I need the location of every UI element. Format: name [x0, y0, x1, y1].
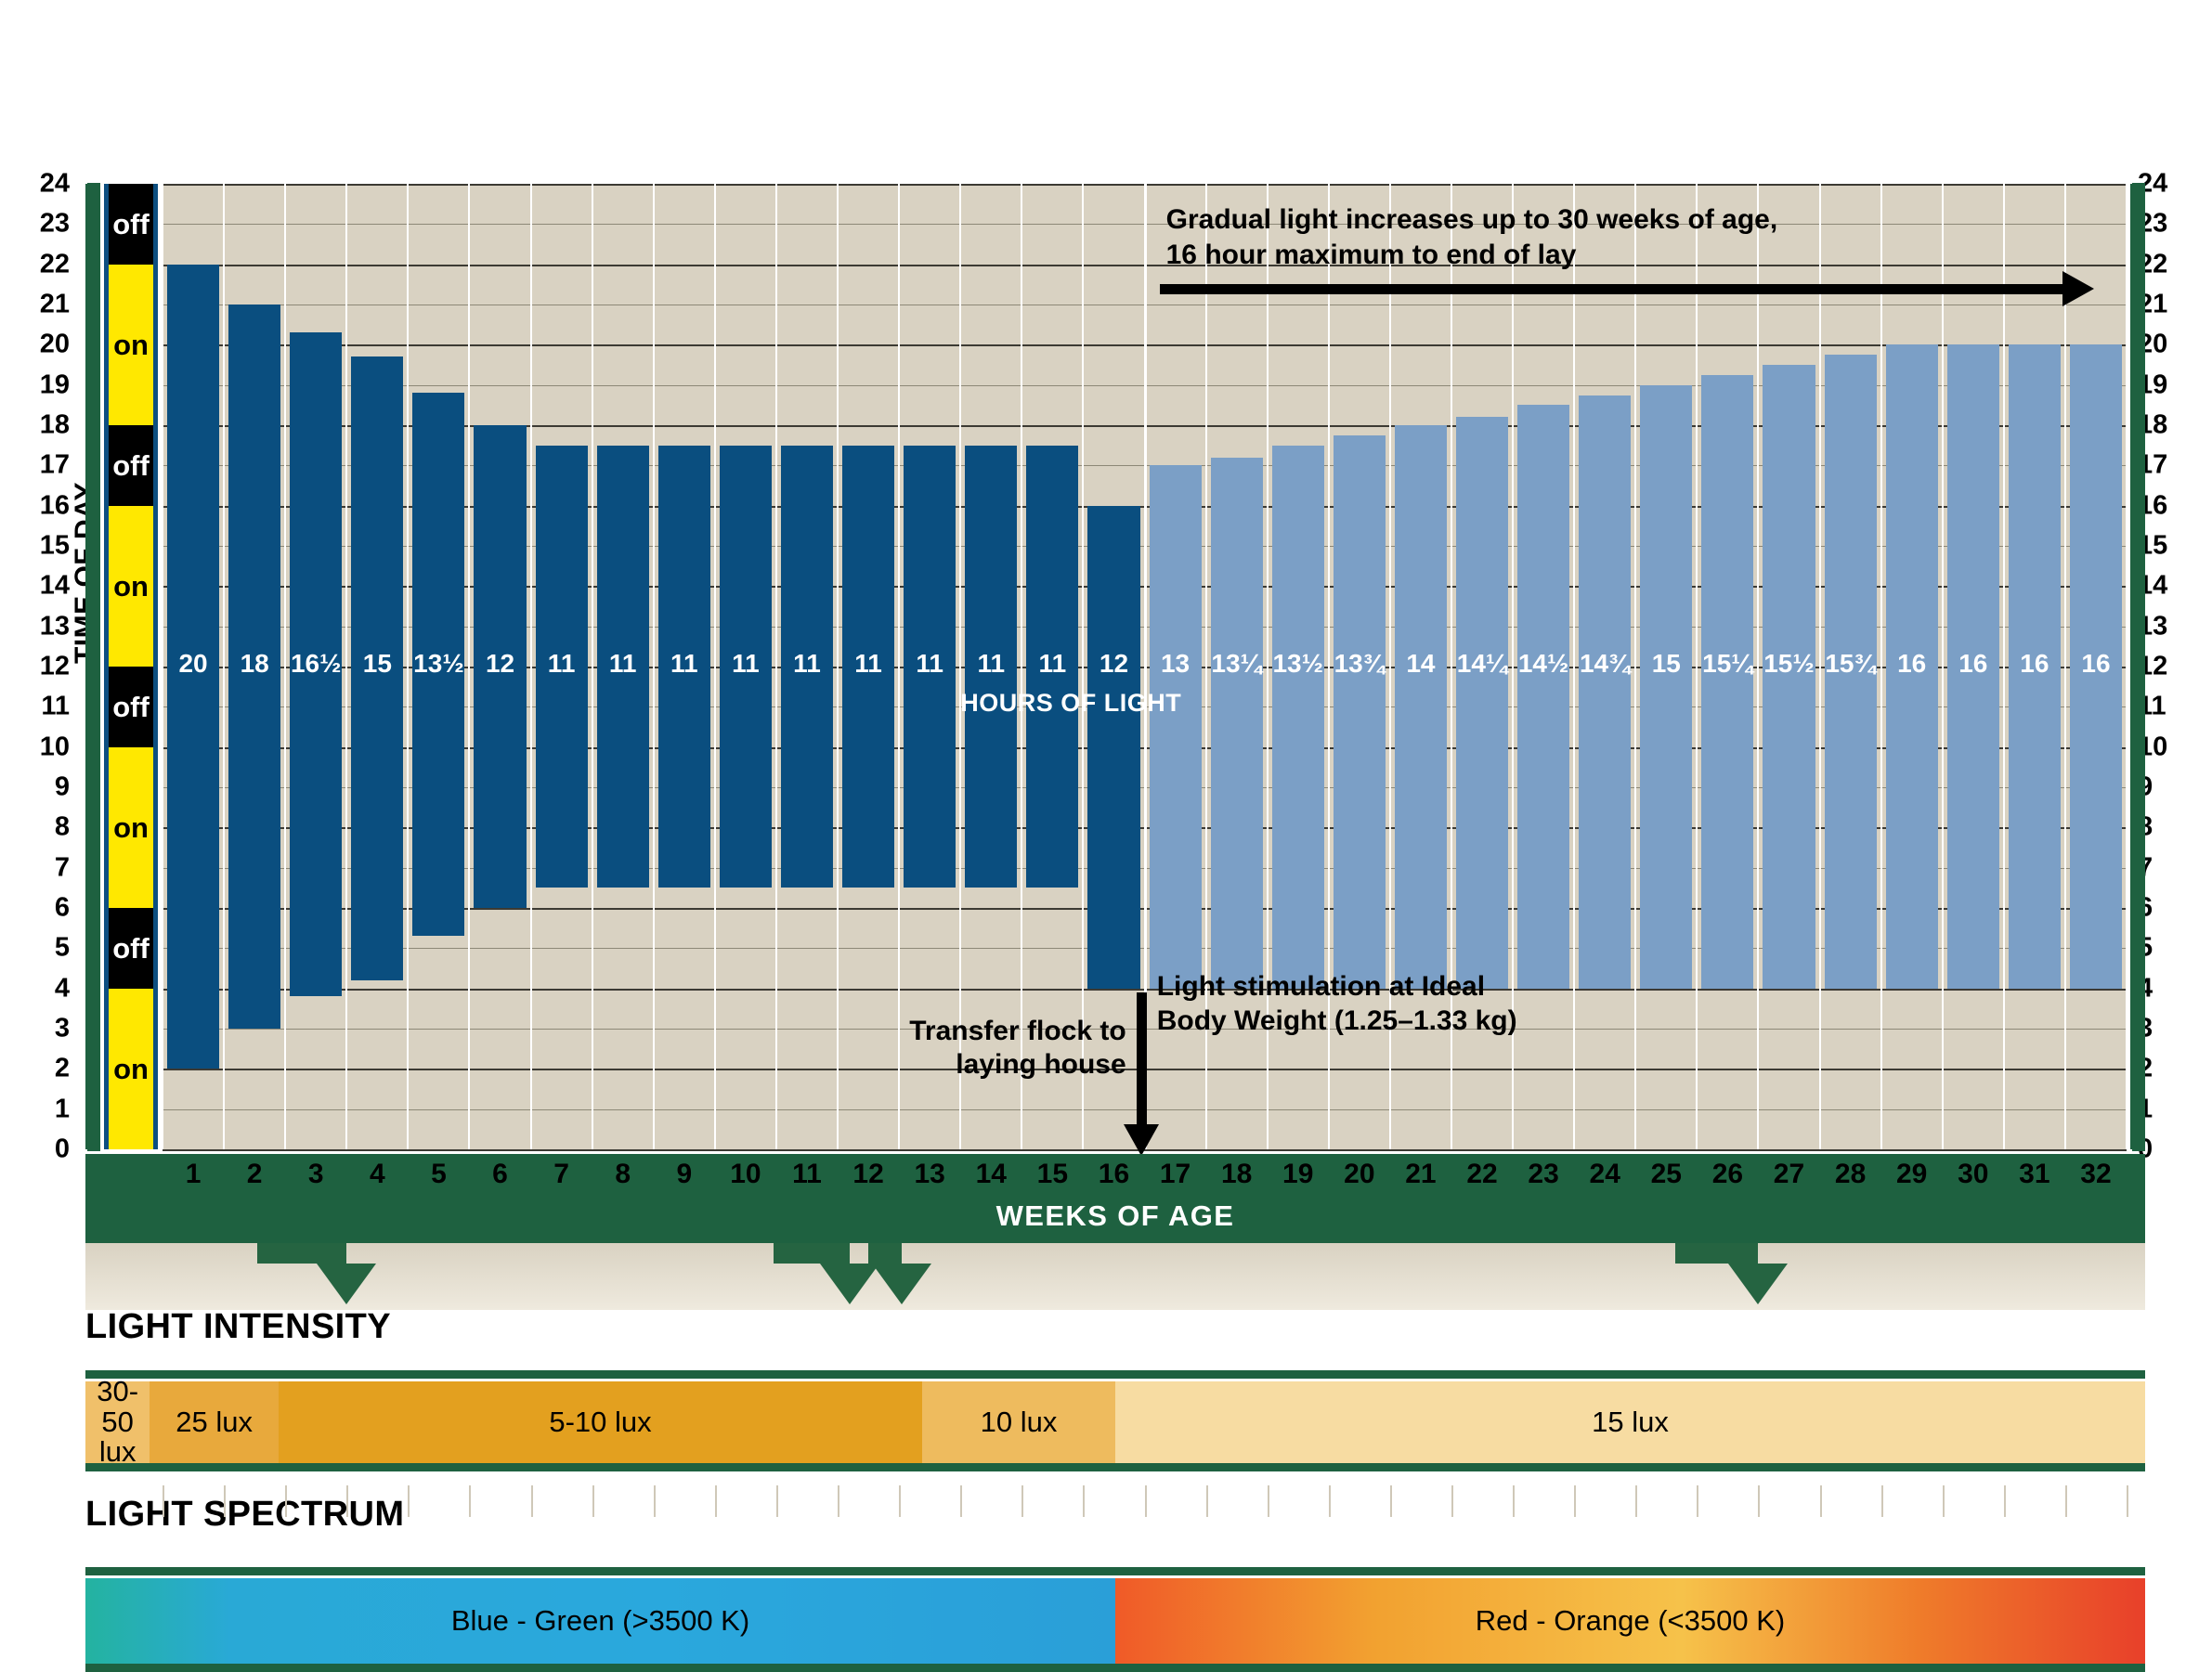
y-tick-right: [2132, 1108, 2145, 1111]
grid-line-v-28: [1880, 184, 1882, 1149]
light-on-off-column: offonoffonoffonoffon: [104, 184, 158, 1149]
grid-line-v-6: [530, 184, 532, 1149]
y-tick-left: [87, 183, 100, 186]
week-label-2: 2: [247, 1159, 263, 1190]
y-tick-right: [2132, 706, 2145, 708]
y-tick-right: [2132, 384, 2145, 387]
y-tick-left: [87, 746, 100, 749]
y-tick-label-24: 24: [40, 171, 70, 198]
spectrum-hatch-tick: [1268, 1485, 1269, 1517]
transfer-flock-arrow-stem: [1137, 992, 1147, 1127]
grid-line-v-10: [775, 184, 777, 1149]
spectrum-hatch-tick: [163, 1485, 164, 1517]
week-label-10: 10: [730, 1159, 761, 1190]
y-tick-right: [2132, 585, 2145, 588]
week-label-28: 28: [1835, 1159, 1866, 1190]
lux-divider-top: [85, 1370, 2145, 1379]
bar-value-label: 13¾: [1334, 651, 1386, 677]
bar-value-label: 11: [965, 651, 1017, 677]
chevron-head-icon: [872, 1264, 931, 1304]
spectrum-hatch-tick: [1758, 1485, 1760, 1517]
week-label-32: 32: [2080, 1159, 2111, 1190]
bar-value-label: 20: [167, 651, 219, 677]
light-segment-label: off: [112, 451, 150, 480]
grid-line-v-11: [837, 184, 839, 1149]
week-label-29: 29: [1896, 1159, 1927, 1190]
grid-line-v-4: [407, 184, 409, 1149]
bar-value-label: 15¼: [1701, 651, 1753, 677]
chevron-head-icon: [1728, 1264, 1788, 1304]
week-label-25: 25: [1651, 1159, 1682, 1190]
grid-line-v-24: [1634, 184, 1636, 1149]
gradual-light-arrow-head-icon: [2062, 271, 2094, 306]
y-tick-right: [2132, 424, 2145, 427]
spectrum-hatch-tick: [531, 1485, 533, 1517]
lux-divider-bottom: [85, 1463, 2145, 1471]
y-tick-label-22: 22: [40, 251, 70, 278]
bar-week-22: 14¼: [1456, 417, 1508, 988]
spectrum-hatch-tick: [1083, 1485, 1085, 1517]
bar-week-12: 11: [842, 446, 894, 888]
week-label-4: 4: [370, 1159, 385, 1190]
light-segment-label: on: [113, 813, 149, 842]
chevron-band: [85, 1243, 2145, 1310]
grid-line-v-26: [1757, 184, 1759, 1149]
week-label-18: 18: [1221, 1159, 1252, 1190]
bar-week-18: 13¼: [1211, 458, 1263, 989]
light-intensity-title: LIGHT INTENSITY: [85, 1307, 391, 1347]
bar-week-1: 20: [167, 265, 219, 1069]
bar-value-label: 13½: [412, 651, 464, 677]
spectrum-hatch-tick: [1206, 1485, 1208, 1517]
bar-value-label: 11: [1026, 651, 1078, 677]
bar-week-31: 16: [2009, 344, 2061, 988]
y-tick-left: [87, 1068, 100, 1070]
light-segment-label: off: [112, 934, 150, 963]
bar-week-16: 12: [1087, 506, 1139, 989]
y-tick-label-0: 0: [55, 1136, 70, 1163]
bar-week-32: 16: [2070, 344, 2122, 988]
week-label-9: 9: [676, 1159, 692, 1190]
bar-value-label: 11: [597, 651, 649, 677]
bar-value-label: 14¼: [1456, 651, 1508, 677]
bar-week-21: 14: [1395, 425, 1447, 989]
y-tick-left: [87, 424, 100, 427]
week-label-12: 12: [852, 1159, 883, 1190]
y-tick-left: [87, 826, 100, 829]
bar-value-label: 11: [904, 651, 956, 677]
grid-line-v-15: [1082, 184, 1084, 1149]
week-label-16: 16: [1099, 1159, 1129, 1190]
transfer-flock-note: Transfer flock to laying house: [629, 1015, 1126, 1082]
y-tick-label-2: 2: [55, 1056, 70, 1082]
week-label-13: 13: [914, 1159, 944, 1190]
grid-line-v-12: [898, 184, 900, 1149]
light-segment-on-1: on: [109, 265, 153, 425]
bar-week-15: 11: [1026, 446, 1078, 888]
y-tick-label-11: 11: [41, 693, 70, 720]
y-tick-left: [87, 706, 100, 708]
spectrum-hatch-tick: [1513, 1485, 1515, 1517]
y-tick-right: [2132, 304, 2145, 306]
lux-band-label: 10 lux: [981, 1407, 1058, 1438]
week-label-19: 19: [1282, 1159, 1313, 1190]
bar-value-label: 14¾: [1579, 651, 1631, 677]
grid-line-v-27: [1819, 184, 1821, 1149]
y-tick-right: [2132, 626, 2145, 629]
y-tick-right: [2132, 746, 2145, 749]
lux-band-4: 10 lux: [922, 1381, 1115, 1463]
spectrum-hatch-tick: [1697, 1485, 1698, 1517]
y-tick-right: [2132, 1148, 2145, 1151]
chevron-head-icon: [820, 1264, 879, 1304]
bar-value-label: 12: [474, 651, 526, 677]
spectrum-hatch-tick: [224, 1485, 226, 1517]
y-tick-left: [87, 626, 100, 629]
spectrum-band-1: Blue - Green (>3500 K): [85, 1578, 1115, 1664]
bar-value-label: 16: [2009, 651, 2061, 677]
y-tick-left: [87, 464, 100, 467]
y-axis-labels-left: 0123456789101112131415161718192021222324: [19, 184, 70, 1149]
bar-value-label: 16: [2070, 651, 2122, 677]
y-tick-right: [2132, 464, 2145, 467]
spectrum-band-label: Red - Orange (<3500 K): [1476, 1604, 1785, 1638]
lux-band-1: 30-50lux: [85, 1381, 150, 1463]
bar-week-5: 13½: [412, 393, 464, 936]
spectrum-band-2: Red - Orange (<3500 K): [1115, 1578, 2145, 1664]
bar-week-20: 13¾: [1334, 435, 1386, 989]
y-tick-left: [87, 988, 100, 991]
y-tick-left: [87, 786, 100, 789]
y-tick-right: [2132, 907, 2145, 910]
y-tick-label-9: 9: [55, 774, 70, 801]
bar-value-label: 13¼: [1211, 651, 1263, 677]
light-segment-off-4: off: [109, 667, 153, 747]
y-tick-label-3: 3: [55, 1016, 70, 1043]
y-tick-right: [2132, 666, 2145, 668]
y-tick-right: [2132, 183, 2145, 186]
spectrum-hatch-tick: [408, 1485, 410, 1517]
y-tick-right: [2132, 826, 2145, 829]
week-label-6: 6: [492, 1159, 508, 1190]
y-tick-left: [87, 947, 100, 950]
spectrum-hatch-tick: [1329, 1485, 1331, 1517]
bar-week-17: 13: [1150, 465, 1202, 988]
bar-value-label: 13: [1150, 651, 1202, 677]
grid-line-v-31: [2064, 184, 2066, 1149]
week-label-7: 7: [553, 1159, 569, 1190]
y-tick-label-12: 12: [40, 654, 70, 680]
light-segment-off-2: off: [109, 425, 153, 506]
bar-value-label: 15: [1640, 651, 1692, 677]
transfer-flock-note-line1: Transfer flock to: [629, 1015, 1126, 1049]
y-tick-label-15: 15: [40, 533, 70, 560]
bar-week-29: 16: [1886, 344, 1938, 988]
bar-value-label: 11: [720, 651, 772, 677]
lux-band-label: 5-10 lux: [549, 1407, 651, 1438]
spectrum-hatch-tick: [1574, 1485, 1576, 1517]
y-tick-label-7: 7: [55, 854, 70, 881]
y-tick-left: [87, 223, 100, 226]
bar-value-label: 11: [781, 651, 833, 677]
chevron-head-icon: [317, 1264, 376, 1304]
y-tick-label-17: 17: [40, 452, 70, 479]
bar-week-9: 11: [658, 446, 710, 888]
y-tick-label-1: 1: [55, 1095, 70, 1122]
chevron-stalk: [257, 1243, 346, 1264]
bar-week-4: 15: [351, 356, 403, 980]
transfer-flock-arrow-head-icon: [1124, 1124, 1159, 1156]
week-label-26: 26: [1712, 1159, 1743, 1190]
light-segment-label: off: [112, 210, 150, 239]
transfer-flock-note-line2: laying house: [629, 1048, 1126, 1082]
week-label-21: 21: [1405, 1159, 1436, 1190]
y-tick-label-5: 5: [55, 935, 70, 962]
y-tick-right: [2132, 505, 2145, 508]
gradual-light-note-line1: Gradual light increases up to 30 weeks o…: [1166, 202, 1778, 238]
lux-band-label: 15 lux: [1592, 1407, 1669, 1438]
week-label-8: 8: [615, 1159, 631, 1190]
light-segment-label: off: [112, 693, 150, 721]
week-label-27: 27: [1774, 1159, 1804, 1190]
bar-value-label: 16: [1947, 651, 1999, 677]
bar-week-14: 11: [965, 446, 1017, 888]
y-tick-label-14: 14: [40, 573, 70, 600]
y-tick-left: [87, 666, 100, 668]
y-tick-left: [87, 585, 100, 588]
light-segment-off-6: off: [109, 908, 153, 989]
y-tick-left: [87, 867, 100, 870]
y-tick-label-20: 20: [40, 331, 70, 358]
gradual-light-note-line2: 16 hour maximum to end of lay: [1166, 238, 1778, 273]
bar-week-28: 15¾: [1825, 355, 1877, 989]
bar-value-label: 11: [658, 651, 710, 677]
spectrum-hatch-tick: [1635, 1485, 1637, 1517]
bar-value-label: 13½: [1272, 651, 1324, 677]
bar-week-13: 11: [904, 446, 956, 888]
y-tick-right: [2132, 545, 2145, 548]
grid-line-v-2: [284, 184, 286, 1149]
week-label-20: 20: [1344, 1159, 1374, 1190]
spectrum-hatch-tick: [1390, 1485, 1392, 1517]
spectrum-hatch-tick: [1451, 1485, 1453, 1517]
week-label-14: 14: [976, 1159, 1007, 1190]
spectrum-hatch-tick: [2065, 1485, 2067, 1517]
spectrum-hatch-tick: [960, 1485, 962, 1517]
bar-value-label: 18: [228, 651, 280, 677]
bar-week-2: 18: [228, 305, 280, 1029]
y-tick-label-6: 6: [55, 895, 70, 922]
y-tick-left: [87, 384, 100, 387]
bar-week-19: 13½: [1272, 446, 1324, 989]
y-tick-left: [87, 1028, 100, 1030]
y-tick-left: [87, 343, 100, 346]
grid-line-v-30: [2003, 184, 2005, 1149]
week-label-22: 22: [1466, 1159, 1497, 1190]
week-label-23: 23: [1528, 1159, 1558, 1190]
light-segment-off-0: off: [109, 184, 153, 265]
light-stimulation-note: Light stimulation at Ideal Body Weight (…: [1157, 970, 1517, 1038]
week-label-31: 31: [2019, 1159, 2049, 1190]
spectrum-hatch-tick: [715, 1485, 717, 1517]
bar-value-label: 15½: [1763, 651, 1815, 677]
spectrum-hatch-tick: [899, 1485, 901, 1517]
y-tick-left: [87, 545, 100, 548]
week-label-3: 3: [308, 1159, 324, 1190]
spectrum-hatch-tick: [1021, 1485, 1023, 1517]
bar-week-25: 15: [1640, 385, 1692, 989]
y-tick-right: [2132, 786, 2145, 789]
grid-line-v-25: [1696, 184, 1698, 1149]
light-stimulation-note-line1: Light stimulation at Ideal: [1157, 970, 1517, 1004]
light-segment-on-3: on: [109, 506, 153, 667]
grid-line-v-23: [1573, 184, 1575, 1149]
y-tick-label-8: 8: [55, 814, 70, 841]
lux-band-3: 5-10 lux: [279, 1381, 922, 1463]
bar-value-label: 12: [1087, 651, 1139, 677]
hours-of-light-label: HOURS OF LIGHT: [960, 689, 1181, 718]
bar-value-label: 15¾: [1825, 651, 1877, 677]
grid-line-v-32: [2126, 184, 2127, 1149]
bar-value-label: 15: [351, 651, 403, 677]
bar-week-27: 15½: [1763, 365, 1815, 989]
light-segment-label: on: [113, 572, 149, 601]
grid-line-v-13: [959, 184, 961, 1149]
grid-line-v-0: [162, 184, 163, 1149]
chevron-stalk: [774, 1243, 851, 1264]
spectrum-hatch-tick: [1943, 1485, 1945, 1517]
week-label-30: 30: [1958, 1159, 1988, 1190]
spectrum-hatch-tick: [285, 1485, 287, 1517]
spectrum-hatch-tick: [1145, 1485, 1147, 1517]
week-label-11: 11: [792, 1159, 822, 1190]
light-segment-on-7: on: [109, 989, 153, 1149]
week-label-24: 24: [1590, 1159, 1620, 1190]
bar-value-label: 14½: [1517, 651, 1569, 677]
spectrum-hatch-tick: [654, 1485, 656, 1517]
y-tick-left: [87, 1108, 100, 1111]
y-tick-label-4: 4: [55, 975, 70, 1002]
y-tick-right: [2132, 1068, 2145, 1070]
week-label-17: 17: [1160, 1159, 1191, 1190]
bar-week-24: 14¾: [1579, 395, 1631, 989]
bar-value-label: 11: [536, 651, 588, 677]
y-tick-label-16: 16: [40, 492, 70, 519]
bar-value-label: 16½: [290, 651, 342, 677]
grid-line-v-8: [653, 184, 655, 1149]
y-tick-label-23: 23: [40, 211, 70, 238]
bar-week-26: 15¼: [1701, 375, 1753, 989]
spectrum-hatch-tick: [2004, 1485, 2006, 1517]
bar-value-label: 16: [1886, 651, 1938, 677]
lux-band-label: 25 lux: [176, 1407, 253, 1438]
grid-line-v-9: [714, 184, 716, 1149]
y-tick-left: [87, 505, 100, 508]
grid-line-v-14: [1021, 184, 1022, 1149]
y-tick-left: [87, 304, 100, 306]
chevron-stalk: [868, 1243, 902, 1264]
y-tick-left: [87, 907, 100, 910]
bar-week-23: 14½: [1517, 405, 1569, 988]
light-spectrum-band: Blue - Green (>3500 K)Red - Orange (<350…: [85, 1578, 2145, 1664]
week-label-15: 15: [1037, 1159, 1068, 1190]
y-tick-right: [2132, 343, 2145, 346]
grid-line-v-29: [1942, 184, 1944, 1149]
lux-band-label-line1: 30-50: [85, 1377, 150, 1437]
y-tick-label-21: 21: [40, 292, 70, 318]
spectrum-band-label: Blue - Green (>3500 K): [451, 1604, 749, 1638]
chevron-stalk: [1675, 1243, 1758, 1264]
plot-area: 201816½1513½12111111111111111111121313¼1…: [163, 184, 2127, 1149]
y-tick-right: [2132, 1028, 2145, 1030]
spectrum-hatch-tick: [346, 1485, 348, 1517]
light-segment-on-5: on: [109, 747, 153, 908]
spectrum-divider-top: [85, 1567, 2145, 1575]
y-tick-right: [2132, 988, 2145, 991]
lighting-program-chart: TIME OF DAY 0123456789101112131415161718…: [0, 0, 2212, 1671]
grid-line-v-3: [345, 184, 347, 1149]
grid-line-v-7: [592, 184, 593, 1149]
spectrum-hatch-tick: [2127, 1485, 2128, 1517]
light-segment-label: on: [113, 1055, 149, 1083]
bar-week-6: 12: [474, 425, 526, 908]
spectrum-hatch-tick: [469, 1485, 471, 1517]
spectrum-hatch-row: [85, 1485, 2145, 1517]
y-tick-left: [87, 1148, 100, 1151]
y-axis-labels-right: 0123456789101112131415161718192021222324: [2138, 184, 2189, 1149]
y-tick-label-18: 18: [40, 412, 70, 439]
bar-week-3: 16½: [290, 332, 342, 996]
spectrum-hatch-tick: [1820, 1485, 1822, 1517]
bar-week-10: 11: [720, 446, 772, 888]
grid-line-v-5: [468, 184, 470, 1149]
gradual-light-note: Gradual light increases up to 30 weeks o…: [1166, 202, 1778, 274]
light-intensity-band: 30-50lux25 lux5-10 lux10 lux15 lux: [85, 1381, 2145, 1463]
lux-band-5: 15 lux: [1115, 1381, 2145, 1463]
y-tick-right: [2132, 947, 2145, 950]
bar-week-8: 11: [597, 446, 649, 888]
y-tick-left: [87, 264, 100, 266]
y-tick-right: [2132, 264, 2145, 266]
light-segment-label: on: [113, 331, 149, 359]
lux-band-2: 25 lux: [150, 1381, 279, 1463]
spectrum-hatch-tick: [838, 1485, 839, 1517]
light-stimulation-note-line2: Body Weight (1.25–1.33 kg): [1157, 1004, 1517, 1039]
y-tick-label-10: 10: [40, 733, 70, 760]
bar-week-30: 16: [1947, 344, 1999, 988]
y-tick-label-19: 19: [40, 371, 70, 398]
spectrum-hatch-tick: [1881, 1485, 1883, 1517]
y-tick-right: [2132, 867, 2145, 870]
bar-week-7: 11: [536, 446, 588, 888]
bar-week-11: 11: [781, 446, 833, 888]
bar-value-label: 14: [1395, 651, 1447, 677]
y-tick-right: [2132, 223, 2145, 226]
week-label-5: 5: [431, 1159, 447, 1190]
week-label-1: 1: [186, 1159, 202, 1190]
lux-band-label: 30-50lux: [85, 1377, 150, 1468]
gradual-light-arrow-line: [1160, 284, 2062, 294]
spectrum-hatch-tick: [592, 1485, 594, 1517]
bar-value-label: 11: [842, 651, 894, 677]
y-tick-label-13: 13: [40, 613, 70, 640]
spectrum-hatch-tick: [776, 1485, 778, 1517]
x-axis-title: WEEKS OF AGE: [85, 1199, 2145, 1233]
grid-line-v-1: [223, 184, 225, 1149]
